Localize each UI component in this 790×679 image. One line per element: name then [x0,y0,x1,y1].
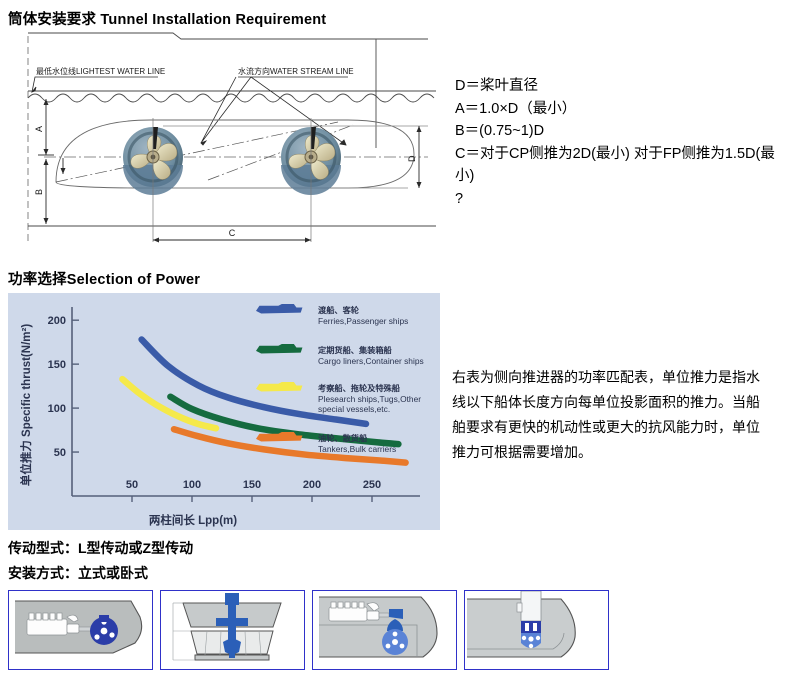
chart-description: 右表为侧向推进器的功率匹配表，单位推力是指水 线以下船体长度方向每单位投影面积的… [452,365,784,465]
chart-xtick-200: 200 [303,479,321,491]
page-title-tunnel: 筒体安装要求 Tunnel Installation Requirement [8,8,326,29]
chart-xtick-250: 250 [363,479,381,491]
chart-legend-item-1: 定期货船、集装箱船Cargo liners,Container ships [256,344,424,366]
chart-xtick-150: 150 [243,479,261,491]
dimension-c-label: C [229,228,236,238]
chart-ytick-100: 100 [48,403,66,415]
specific-thrust-chart: 5010015020025050100150200 渡船、客轮Ferries,P… [8,293,440,530]
chart-ytick-200: 200 [48,315,66,327]
photo-l-drive-horizontal-engine[interactable] [8,590,153,670]
formula-line-b: B＝(0.75~1)D [455,120,785,143]
chart-legend-label-en-2-1: special vessels,etc. [318,404,390,414]
chart-note-line-1: 右表为侧向推进器的功率匹配表，单位推力是指水 [452,365,784,390]
photo-z-drive-bow-vertical[interactable] [464,590,609,670]
chart-legend-label-en-3-0: Tankers,Bulk carriers [318,444,396,454]
chart-note-line-2: 线以下船体长度方向每单位投影面积的推力。当船 [452,390,784,415]
dimension-d-label: D [407,155,417,162]
formula-line-a: A＝1.0×D（最小） [455,98,785,121]
chart-ytick-150: 150 [48,359,66,371]
ship-silhouette-icon [256,344,302,353]
chart-legend-label-en-0-0: Ferries,Passenger ships [318,316,408,326]
chart-legend-label-en-2-0: Plesearch ships,Tugs,Other [318,394,421,404]
formula-line-extra: ? [455,188,785,211]
chart-legend-item-0: 渡船、客轮Ferries,Passenger ships [256,304,408,326]
chart-legend-label-cn-0: 渡船、客轮 [318,305,360,315]
tunnel-installation-diagram: 最低水位线LIGHTEST WATER LINE 水流方向WATER STREA… [8,30,438,258]
waterline-label: 最低水位线LIGHTEST WATER LINE [36,66,165,76]
photo-l-drive-bow-section[interactable] [312,590,457,670]
chart-legend-label-cn-2: 考察船、拖轮及特殊船 [318,383,401,393]
installation-photo-row [8,590,628,672]
chart-note-line-3: 舶要求有更快的机动性或更大的抗风能力时，单位 [452,415,784,440]
chart-legend-label-cn-1: 定期货船、集装箱船 [317,345,393,355]
chart-xtick-100: 100 [183,479,201,491]
ship-silhouette-icon [256,304,302,313]
formula-line-c-cont: 小) [455,165,785,188]
formula-line-c: C＝对于CP侧推为2D(最小) 对于FP侧推为1.5D(最 [455,143,785,166]
mounting-type-text: 安装方式：立式或卧式 [8,563,148,583]
formula-line-d: D＝桨叶直径 [455,75,785,98]
chart-ylabel: 单位推力 Specific thrust(N/m²) [19,324,33,486]
waterstream-label: 水流方向WATER STREAM LINE [238,66,354,76]
chart-xtick-50: 50 [126,479,138,491]
chart-legend-label-cn-3: 油轮、散货船 [318,433,368,443]
chart-ytick-50: 50 [54,447,66,459]
chart-note-line-4: 推力可根据需要增加。 [452,440,784,465]
thruster-unit-icon [382,629,408,655]
page-title-power: 功率选择Selection of Power [8,268,200,289]
drive-type-text: 传动型式：L型传动或Z型传动 [8,538,193,558]
chart-xlabel: 两柱间长 Lpp(m) [149,513,237,527]
dimension-b-label: B [34,189,44,195]
photo-z-drive-vertical-section[interactable] [160,590,305,670]
chart-legend-label-en-1-0: Cargo liners,Container ships [318,356,424,366]
dimension-a-label: A [34,126,44,132]
formula-list: D＝桨叶直径 A＝1.0×D（最小） B＝(0.75~1)D C＝对于CP侧推为… [455,75,785,210]
ship-silhouette-icon [256,382,302,391]
